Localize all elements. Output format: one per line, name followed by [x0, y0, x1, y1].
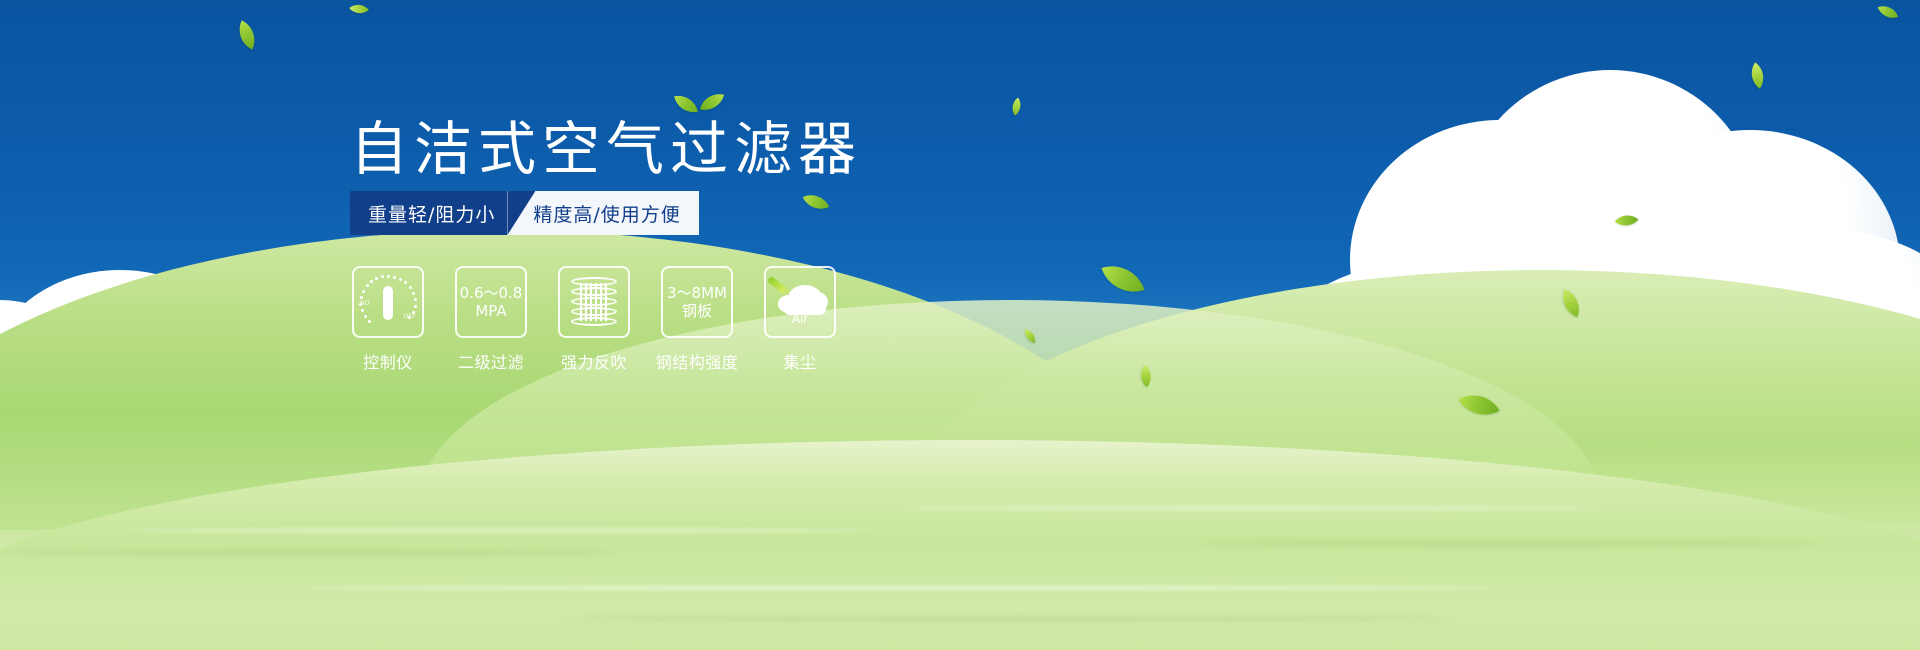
feature-caption: 强力反吹 [561, 349, 627, 373]
air-label: Air [772, 312, 828, 326]
tab-label: 重量轻/阻力小 [368, 200, 495, 227]
feature-item-controller[interactable]: NO OFF 控制仪 [352, 266, 424, 373]
tab-high-precision-easy-use[interactable]: 精度高/使用方便 [507, 191, 698, 235]
cloud-air-icon: Air [772, 277, 828, 327]
feature-caption: 控制仪 [363, 349, 413, 373]
tab-lightweight-low-resistance[interactable]: 重量轻/阻力小 [350, 191, 521, 235]
gauge-off-label: OFF [403, 313, 416, 320]
feature-item-steel-strength[interactable]: 3～8MM 钢板 钢结构强度 [661, 266, 733, 373]
hero-banner: 自洁式空气过滤器 重量轻/阻力小 精度高/使用方便 [0, 0, 1920, 650]
steel-material: 钢板 [667, 302, 727, 320]
steel-thickness: 3～8MM [667, 284, 727, 302]
banner-content: 自洁式空气过滤器 重量轻/阻力小 精度高/使用方便 [0, 0, 1920, 650]
feature-caption: 钢结构强度 [656, 349, 739, 373]
feature-icon-box: Air [764, 266, 836, 338]
feature-caption: 二级过滤 [458, 349, 524, 373]
steel-plate-text-icon: 3～8MM 钢板 [667, 284, 727, 320]
title-leaf-left [674, 92, 698, 116]
feature-list: NO OFF 控制仪 0.6～0.8 MPA 二级过滤 [352, 266, 836, 373]
feature-item-two-stage-filter[interactable]: 0.6～0.8 MPA 二级过滤 [455, 266, 527, 373]
feature-item-strong-backblow[interactable]: 强力反吹 [558, 266, 630, 373]
gauge-needle [383, 286, 393, 320]
feature-item-dust-collection[interactable]: Air 集尘 [764, 266, 836, 373]
feature-icon-box: NO OFF [352, 266, 424, 338]
gauge-icon: NO OFF [359, 273, 417, 331]
pressure-text-icon: 0.6～0.8 MPA [460, 284, 523, 320]
gauge-on-label: NO [360, 300, 370, 307]
page-title: 自洁式空气过滤器 [350, 118, 862, 180]
coil-filter-icon [571, 277, 617, 327]
feature-tabs: 重量轻/阻力小 精度高/使用方便 [350, 191, 699, 235]
feature-caption: 集尘 [783, 349, 816, 373]
pressure-unit: MPA [460, 302, 523, 320]
pressure-range: 0.6～0.8 [460, 284, 523, 302]
feature-icon-box [558, 266, 630, 338]
tab-label: 精度高/使用方便 [533, 200, 680, 227]
feature-icon-box: 3～8MM 钢板 [661, 266, 733, 338]
title-leaf-right [700, 90, 724, 114]
feature-icon-box: 0.6～0.8 MPA [455, 266, 527, 338]
